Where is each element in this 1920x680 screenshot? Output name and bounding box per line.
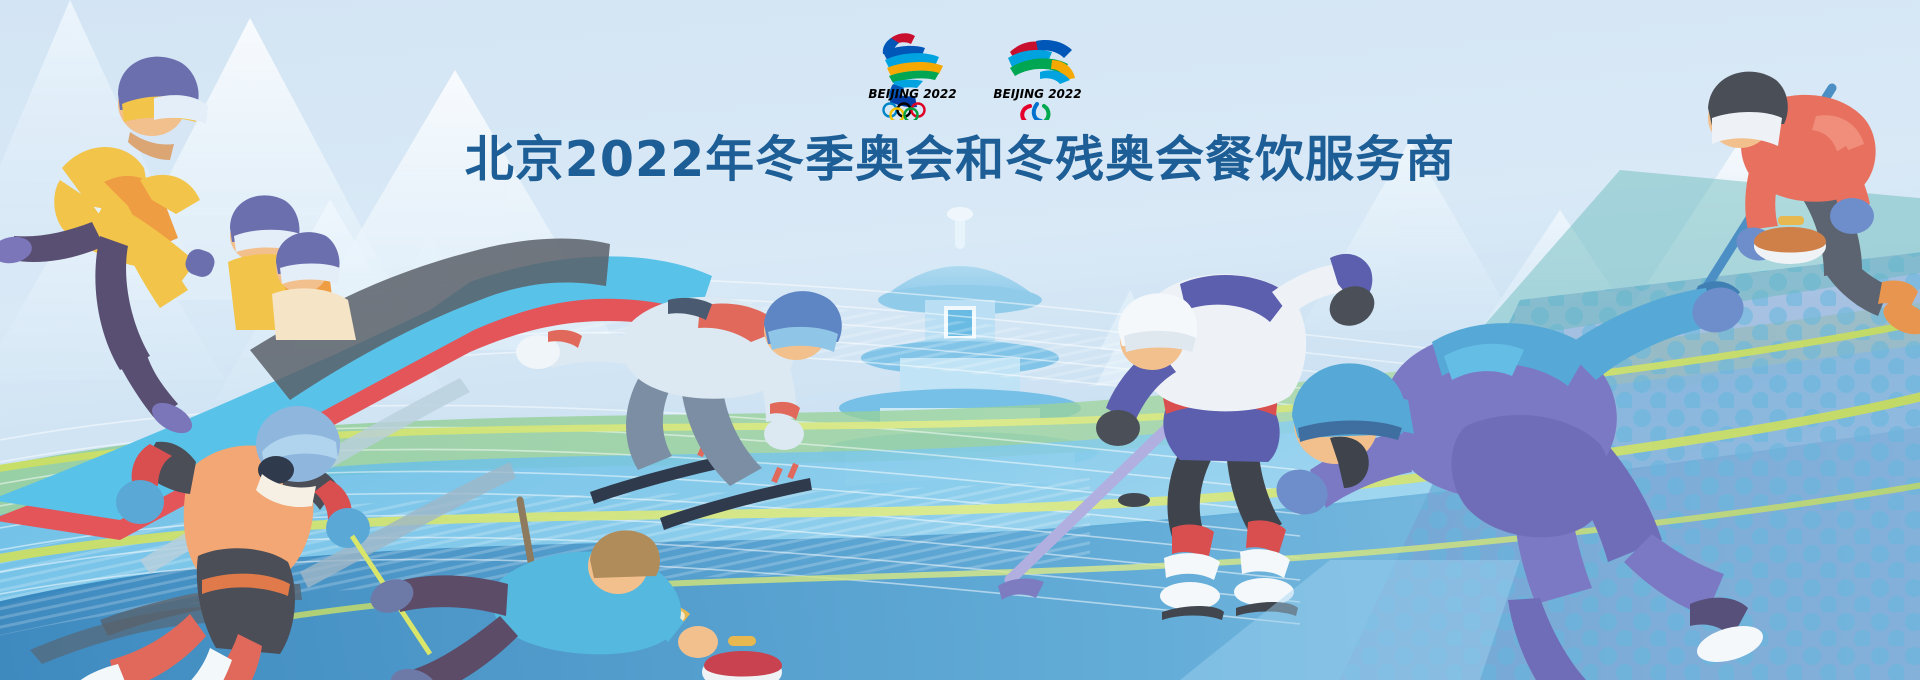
paralympic-wordmark: BEIJING 2022 [993, 87, 1081, 101]
olympic-wordmark: BEIJING 2022 [868, 87, 956, 101]
page-title: 北京2022年冬季奥会和冬残奥会餐饮服务商 [0, 120, 1920, 191]
olympic-banner: BEIJING 2022 [0, 0, 1920, 680]
agitos-icon [1022, 104, 1048, 120]
olympic-emblem: BEIJING 2022 [855, 24, 970, 120]
paralympic-figure-icon [1008, 40, 1075, 84]
paralympic-emblem: BEIJING 2022 [980, 24, 1095, 120]
emblem-group: BEIJING 2022 [855, 24, 1095, 120]
